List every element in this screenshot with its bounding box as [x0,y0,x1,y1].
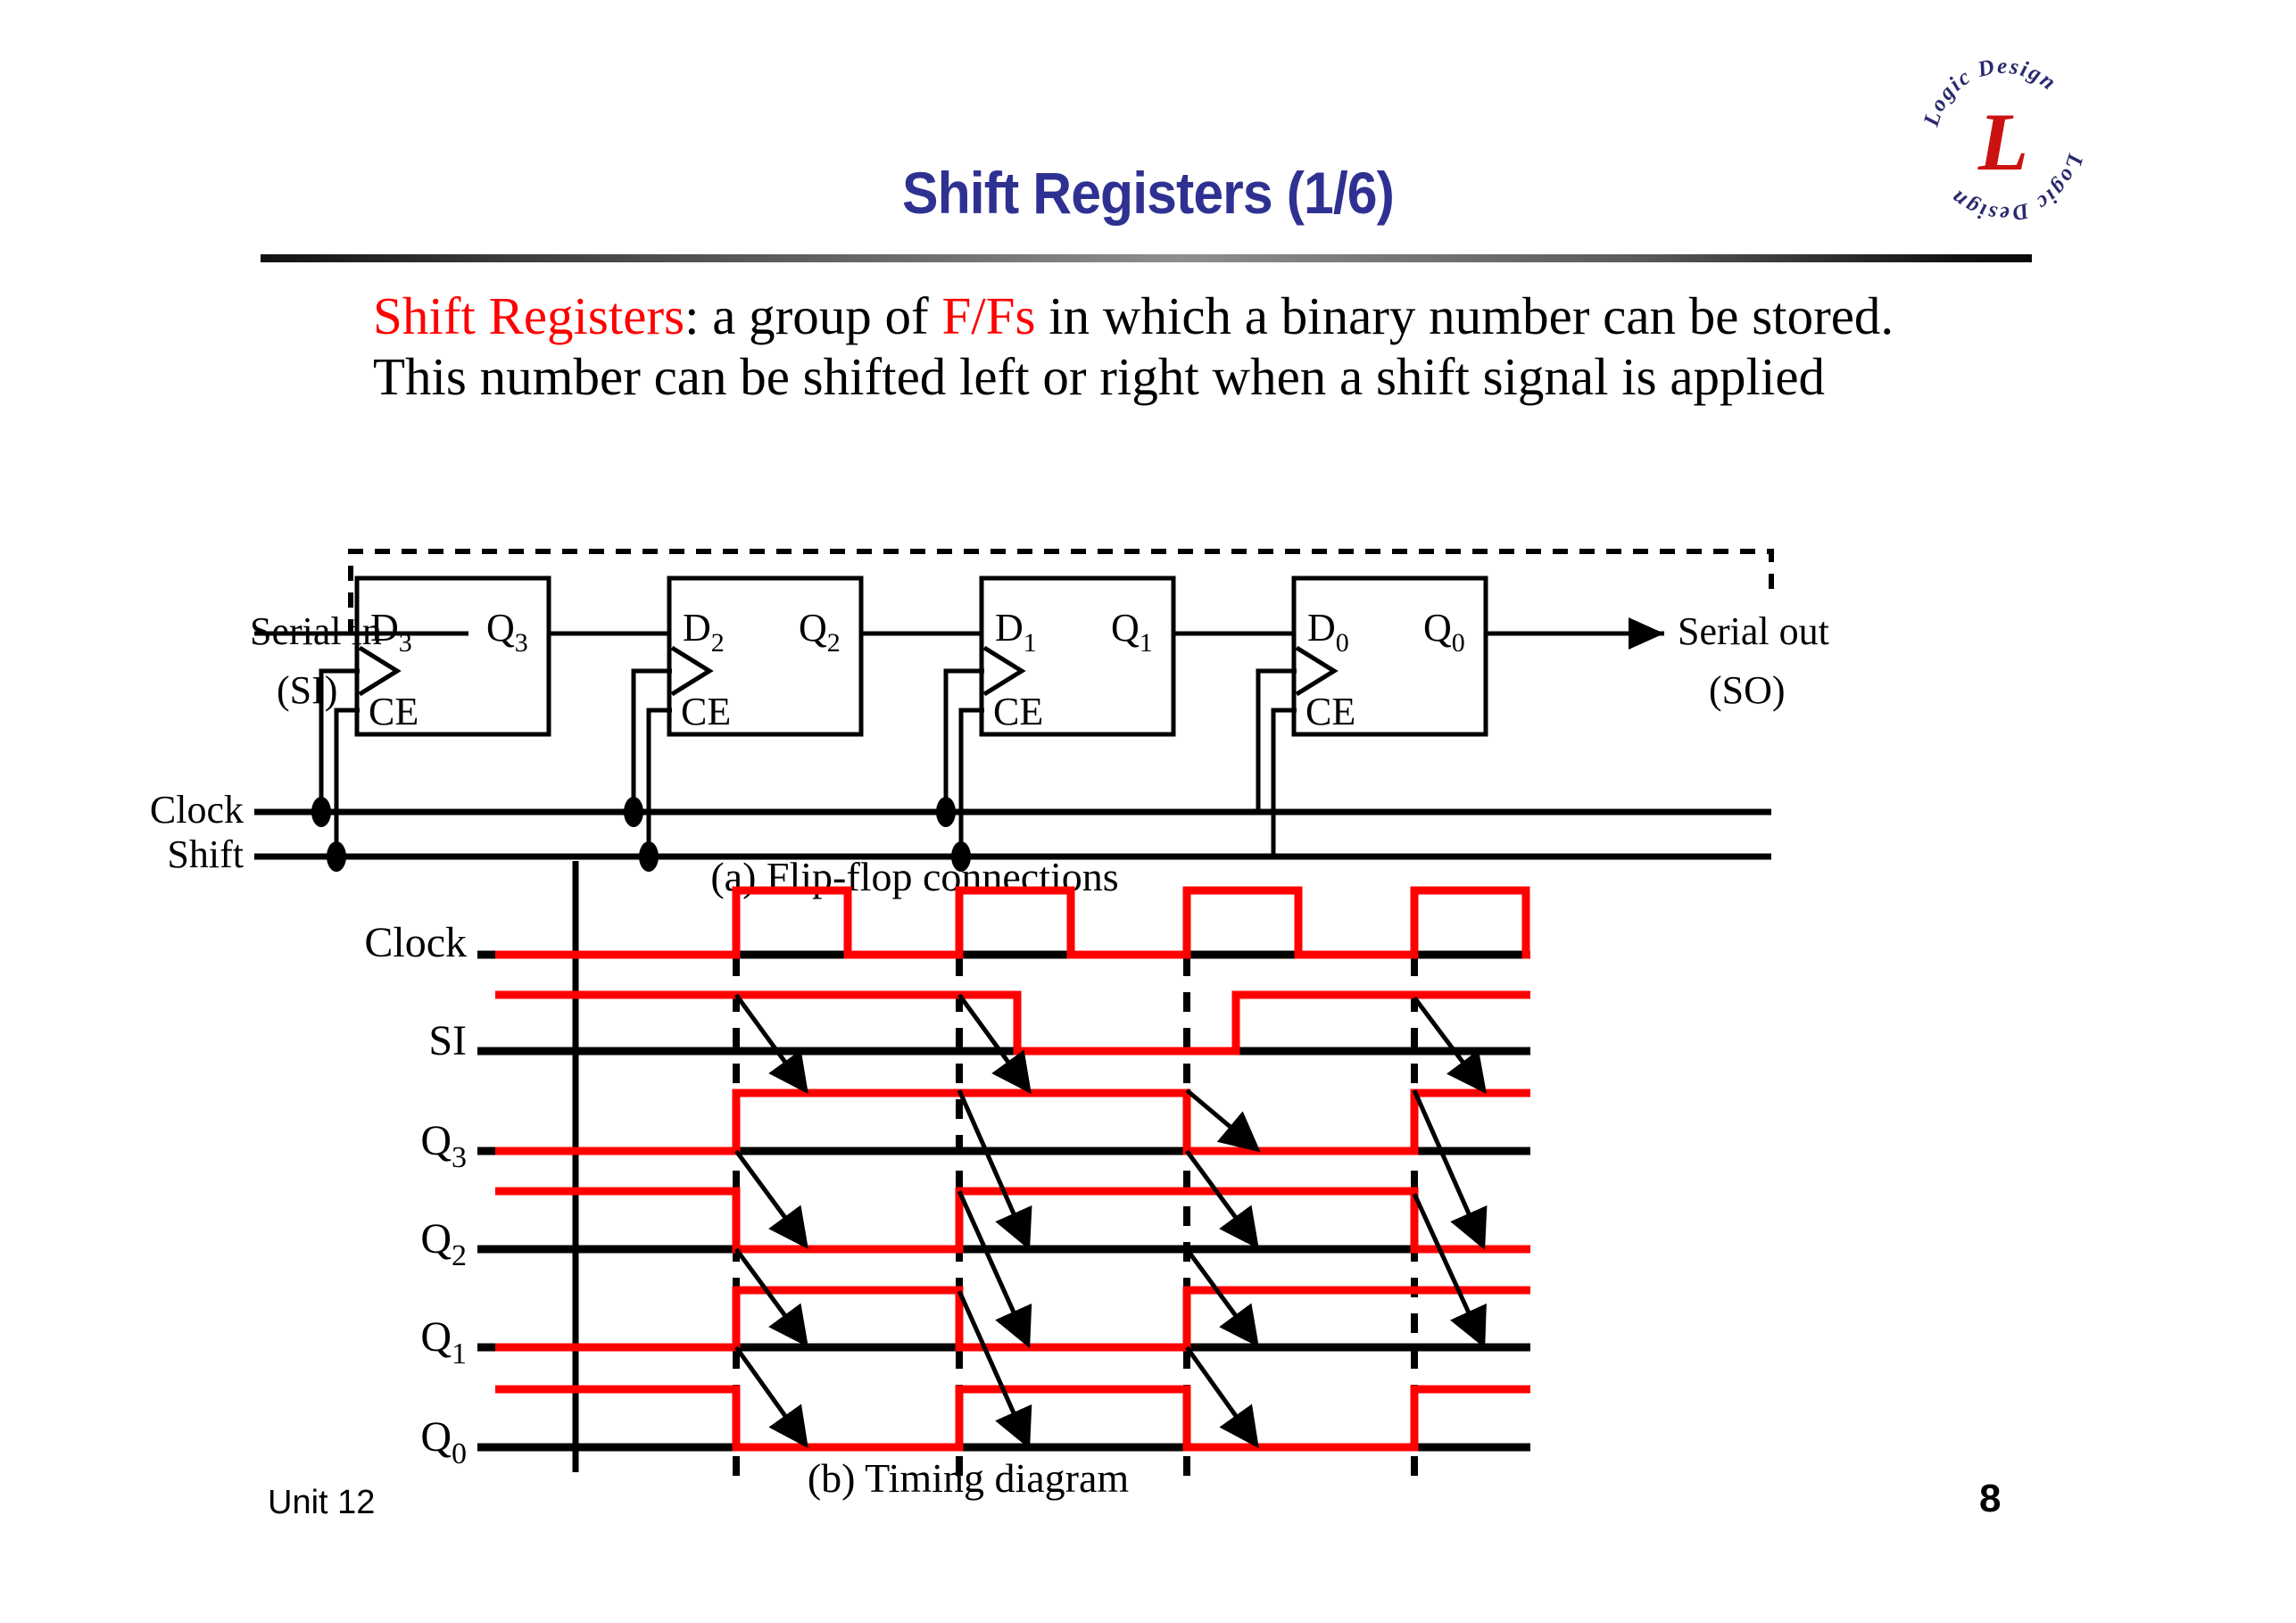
ff0-q-label: Q0 [1423,606,1465,658]
lead-paragraph: Shift Registers: a group of F/Fs in whic… [373,286,1979,408]
timing-label-q3: Q3 [420,1117,467,1174]
slide-root: Logic Design Logic Design L Shift Regist… [0,0,2296,1623]
ff1-d-label: D1 [995,606,1037,658]
waveform-si [495,995,1530,1051]
ff0-d-label: D0 [1307,606,1349,658]
footer-unit-label: Unit 12 [268,1484,375,1522]
serial-out-label-line1: Serial out [1678,609,1829,653]
serial-in-label-line2: (SI) [277,668,337,712]
lead-term-shift-registers: Shift Registers [373,286,684,345]
lead-term-ffs: F/Fs [941,286,1035,345]
title-divider [261,254,2032,262]
clock-triangle-3 [360,648,397,694]
ff1-ce-label: CE [993,690,1043,733]
waveform-q2 [495,1191,1530,1249]
feedback-dashed-wire [351,551,1771,633]
clock-drop-2 [634,671,672,812]
timing-baselines [477,955,1530,1447]
clock-drop-0 [1258,671,1297,812]
ff2-q-label: Q2 [799,606,841,658]
waveform-q1 [495,1290,1530,1347]
clock-triangle-2 [672,648,709,694]
page-title: Shift Registers (1/6) [92,159,2204,227]
ff3-ce-label: CE [369,690,419,733]
timing-label-q2: Q2 [420,1215,467,1272]
waveform-q3 [495,1093,1530,1151]
timing-label-q0: Q0 [420,1413,467,1470]
clock-edge-markers [736,956,1414,1490]
clock-triangle-1 [984,648,1022,694]
waveform-q0 [495,1389,1530,1447]
clock-triangle-0 [1297,648,1334,694]
serial-in-label-line1: Serial in [250,609,382,653]
serial-out-label-line2: (SO) [1709,668,1786,712]
timing-label-q1: Q1 [420,1313,467,1370]
timing-caption: (b) Timing diagram [808,1455,1130,1501]
ff2-ce-label: CE [681,690,731,733]
serial-out-arrow [1629,617,1664,650]
ff1-q-label: Q1 [1111,606,1153,658]
footer-page-number: 8 [1979,1477,2001,1521]
timing-label-clock: Clock [364,919,467,966]
ff2-d-label: D2 [683,606,725,658]
ff3-q-label: Q3 [486,606,528,658]
flipflop-connections-figure: Serial in (SI) Serial out (SO) Clock Shi… [228,535,2101,892]
propagation-arrows [736,995,1481,1441]
timing-diagram-figure: Clock SI Q3 Q2 Q1 Q0 (b) Timin [228,857,2101,1499]
waveform-clock [495,890,1530,955]
clock-bus-label: Clock [150,788,244,832]
lead-seg1: : a group of [684,286,941,345]
timing-label-si: SI [428,1017,467,1064]
ff0-ce-label: CE [1305,690,1355,733]
clock-drop-1 [946,671,984,812]
